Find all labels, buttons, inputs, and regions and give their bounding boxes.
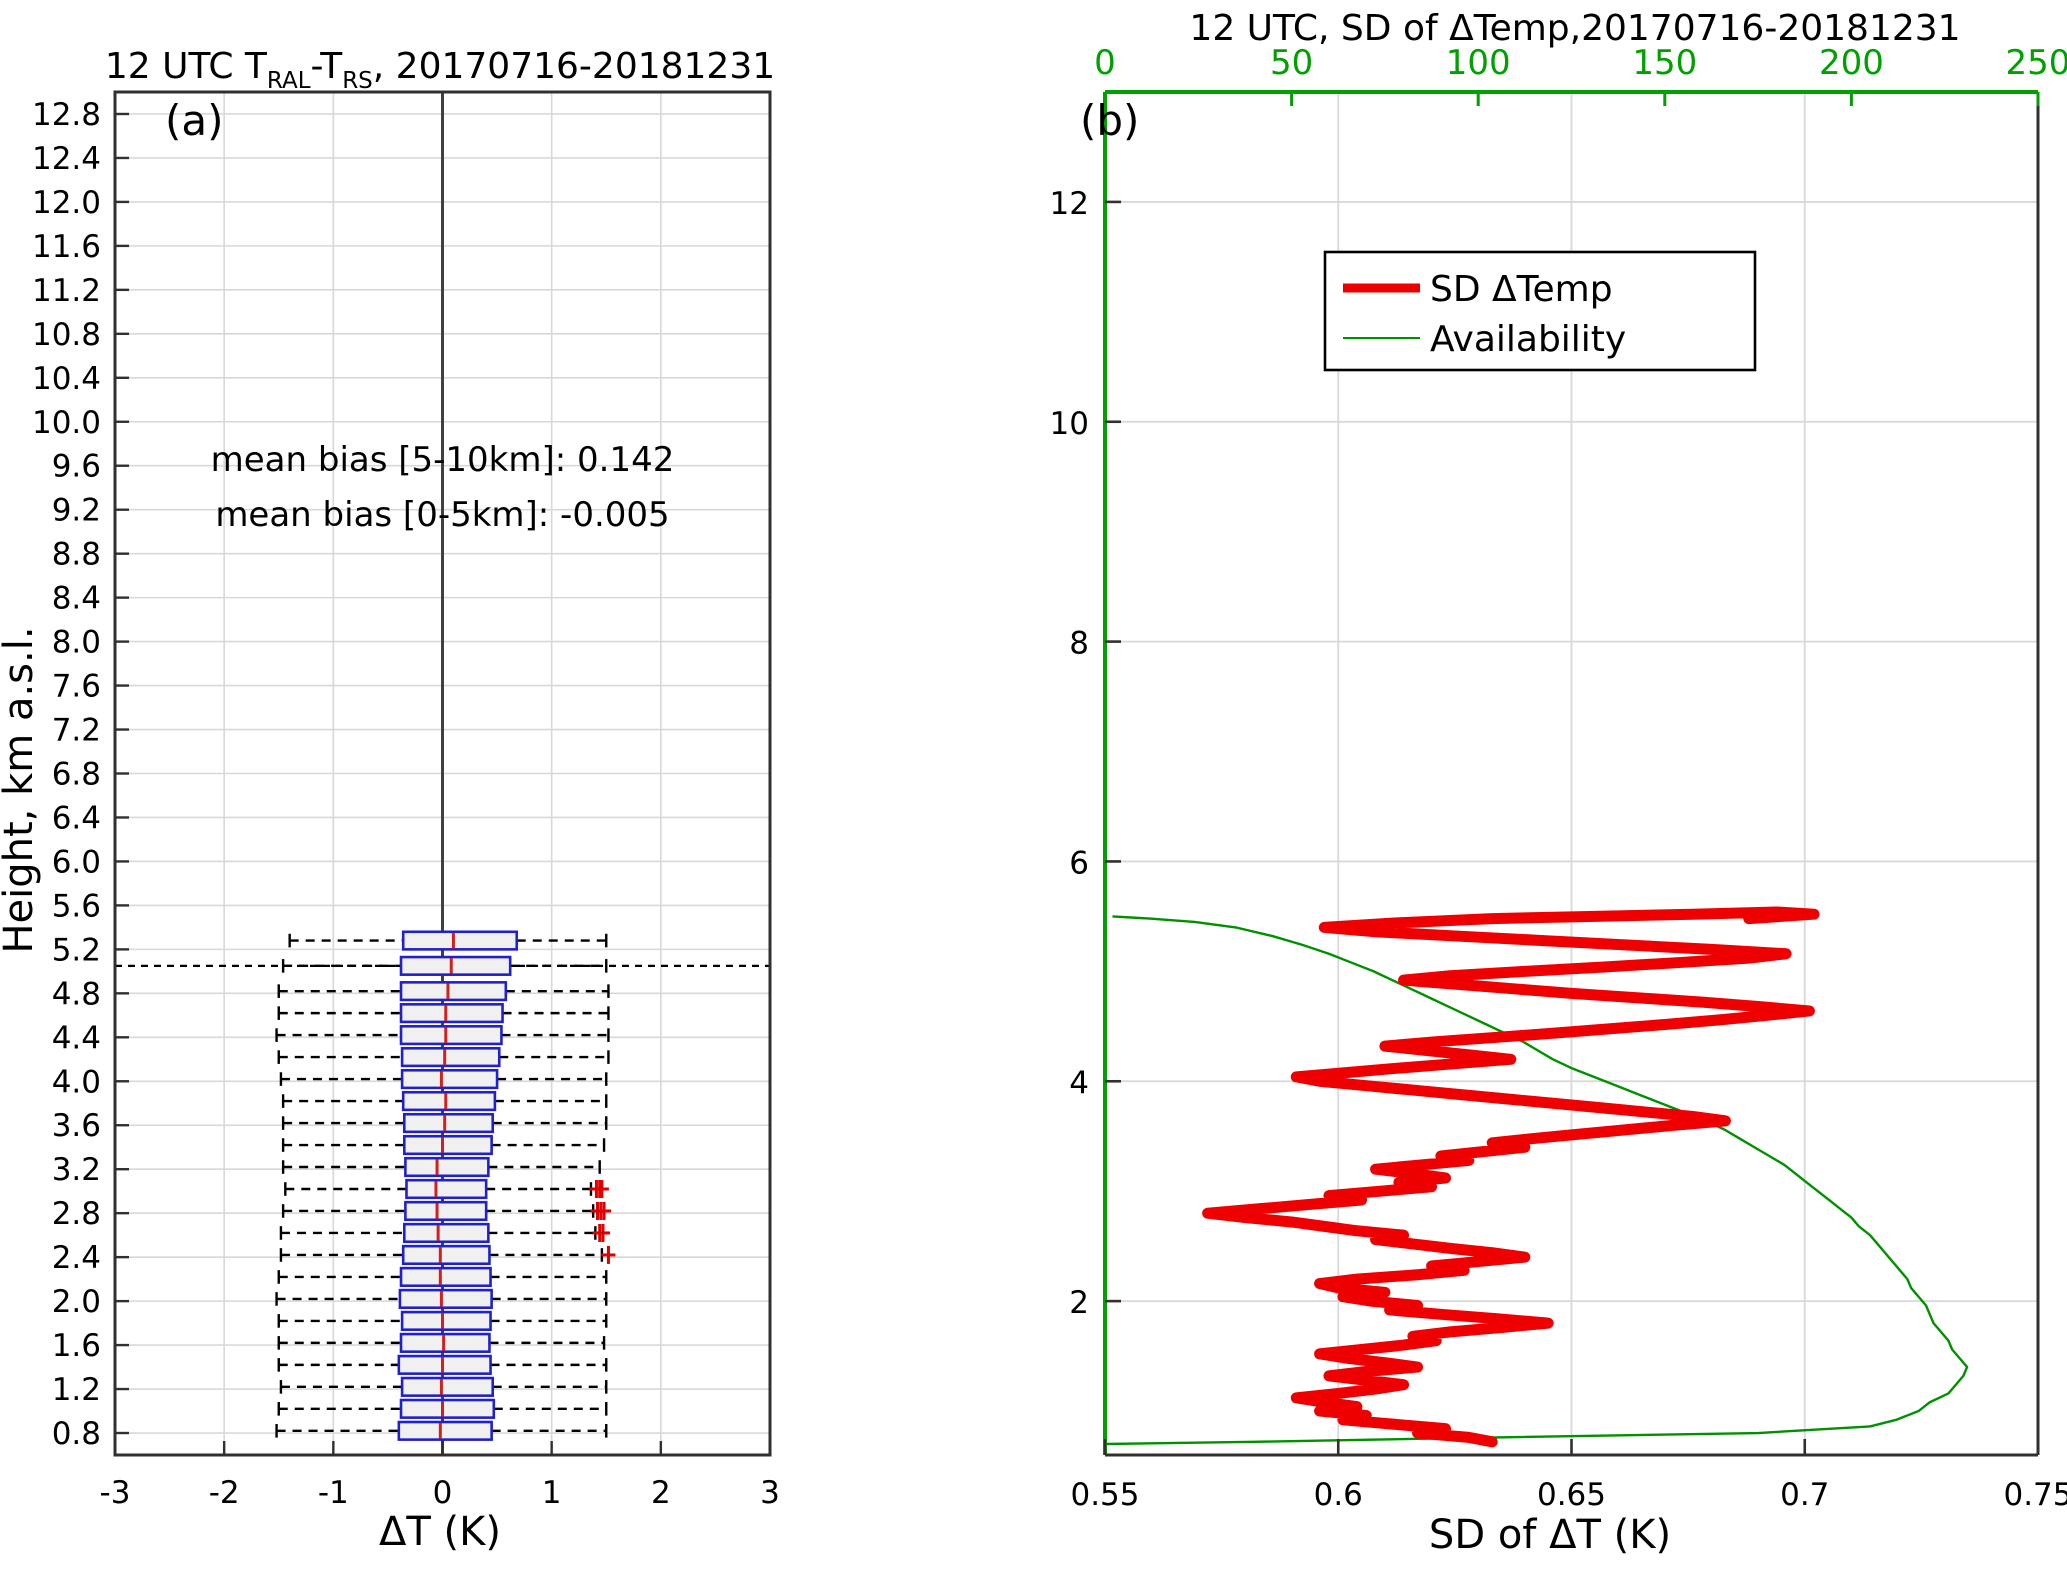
box-iqr — [399, 1356, 491, 1374]
ytick-label: 11.2 — [32, 273, 101, 309]
ytick-label: 9.2 — [52, 493, 101, 529]
ytick-label: 6.8 — [52, 757, 101, 793]
ytick-label: 10.4 — [32, 361, 101, 397]
ytick-label: 7.2 — [52, 713, 101, 749]
xtick-label: 0.7 — [1780, 1477, 1829, 1513]
box-iqr — [399, 1422, 492, 1440]
box-iqr — [401, 1334, 489, 1352]
panel-b-letter: (b) — [1080, 96, 1139, 145]
ytick-label: 4.4 — [52, 1020, 101, 1056]
top-axis-tick-label: 250 — [2006, 43, 2067, 83]
ytick-label: 2.4 — [52, 1240, 101, 1276]
figure-root: 12 UTC TRAL-TRS, 20170716-20181231 mean … — [0, 0, 2067, 1576]
top-axis-tick-label: 150 — [1632, 43, 1697, 83]
svg-text:12 UTC TRAL-TRS, 20170716-2018: 12 UTC TRAL-TRS, 20170716-20181231 — [105, 46, 775, 94]
ytick-label: 1.2 — [52, 1372, 101, 1408]
ytick-label: 1.6 — [52, 1328, 101, 1364]
ytick-label: 10.0 — [32, 405, 101, 441]
ytick-label: 3.6 — [52, 1108, 101, 1144]
legend-label: SD ΔTemp — [1430, 269, 1613, 310]
ytick-label: 0.8 — [52, 1416, 101, 1452]
xtick-label: 2 — [651, 1475, 671, 1511]
xtick-label: -2 — [209, 1475, 240, 1511]
ytick-label: 5.6 — [52, 888, 101, 924]
legend-label: Availability — [1430, 319, 1626, 360]
panel-b-xlabel: SD of ΔT (K) — [1429, 1512, 1671, 1558]
top-axis-tick-label: 0 — [1094, 43, 1116, 83]
box-iqr — [402, 1312, 490, 1330]
ytick-label: 9.6 — [52, 449, 101, 485]
box-iqr — [403, 1246, 489, 1264]
box-iqr — [405, 1202, 486, 1220]
panel-b-svg: 12 UTC, SD of ΔTemp,20170716-20181231 05… — [1030, 0, 2067, 1576]
top-axis-tick-label: 50 — [1270, 43, 1313, 83]
ytick-label: 12 — [1050, 186, 1089, 222]
ytick-label: 3.2 — [52, 1152, 101, 1188]
xtick-label: -3 — [100, 1475, 131, 1511]
ytick-label: 8.4 — [52, 581, 101, 617]
panel-a-svg: 12 UTC TRAL-TRS, 20170716-20181231 mean … — [0, 0, 1030, 1576]
panel-a-title-suffix: , 20170716-20181231 — [373, 46, 775, 87]
top-axis-tick-label: 200 — [1819, 43, 1884, 83]
panel-a-title-mid: -T — [311, 46, 344, 87]
box-iqr — [404, 1224, 488, 1242]
ytick-label: 12.8 — [32, 97, 101, 133]
panel-a: 12 UTC TRAL-TRS, 20170716-20181231 mean … — [0, 0, 1030, 1576]
ytick-label: 6 — [1069, 845, 1089, 881]
xtick-label: -1 — [318, 1475, 349, 1511]
box-iqr — [403, 1092, 495, 1110]
ytick-label: 2 — [1069, 1285, 1089, 1321]
box-iqr — [401, 1268, 491, 1286]
panel-a-ylabel: Height, km a.s.l. — [0, 626, 42, 953]
ytick-label: 11.6 — [32, 229, 101, 265]
ytick-label: 8.0 — [52, 625, 101, 661]
panel-a-title-sub1: RAL — [267, 68, 311, 94]
ytick-label: 10.8 — [32, 317, 101, 353]
box-iqr — [401, 1026, 501, 1044]
ytick-label: 6.4 — [52, 800, 101, 836]
panel-a-title-sub2: RS — [342, 68, 373, 94]
xtick-label: 0.55 — [1070, 1477, 1139, 1513]
top-axis-tick-label: 100 — [1446, 43, 1511, 83]
box-iqr — [401, 1004, 503, 1022]
box-iqr — [401, 1400, 494, 1418]
annotation-text-1: mean bias [0-5km]: -0.005 — [215, 495, 669, 535]
xtick-label: 0.65 — [1537, 1477, 1606, 1513]
xtick-label: 1 — [542, 1475, 562, 1511]
ytick-label: 2.8 — [52, 1196, 101, 1232]
box-iqr — [402, 1070, 497, 1088]
xtick-label: 0 — [433, 1475, 453, 1511]
annotation-text-0: mean bias [5-10km]: 0.142 — [211, 440, 675, 480]
ytick-label: 4.0 — [52, 1064, 101, 1100]
box-iqr — [401, 982, 506, 1000]
box-iqr — [406, 1180, 486, 1198]
box-iqr — [402, 1048, 499, 1066]
ytick-label: 7.6 — [52, 669, 101, 705]
panel-a-letter: (a) — [165, 96, 224, 145]
ytick-label: 12.4 — [32, 141, 101, 177]
box-iqr — [403, 932, 517, 950]
box-iqr — [404, 1114, 492, 1132]
panel-a-xlabel: ΔT (K) — [379, 1509, 501, 1555]
panel-b-legend: SD ΔTempAvailability — [1325, 252, 1755, 370]
ytick-label: 5.2 — [52, 932, 101, 968]
panel-b: 12 UTC, SD of ΔTemp,20170716-20181231 05… — [1030, 0, 2067, 1576]
ytick-label: 8.8 — [52, 537, 101, 573]
panel-a-title: 12 UTC TRAL-TRS, 20170716-20181231 — [105, 46, 775, 94]
ytick-label: 4 — [1069, 1065, 1089, 1101]
xtick-label: 0.75 — [2003, 1477, 2067, 1513]
xtick-label: 0.6 — [1314, 1477, 1363, 1513]
ytick-label: 10 — [1050, 406, 1089, 442]
box-iqr — [401, 957, 510, 975]
ytick-label: 8 — [1069, 626, 1089, 662]
box-iqr — [400, 1290, 492, 1308]
ytick-label: 6.0 — [52, 844, 101, 880]
box-iqr — [405, 1158, 488, 1176]
ytick-label: 4.8 — [52, 976, 101, 1012]
ytick-label: 2.0 — [52, 1284, 101, 1320]
box-iqr — [404, 1136, 491, 1154]
panel-a-title-prefix: 12 UTC T — [105, 46, 268, 87]
xtick-label: 3 — [760, 1475, 780, 1511]
ytick-label: 12.0 — [32, 185, 101, 221]
box-iqr — [402, 1378, 493, 1396]
